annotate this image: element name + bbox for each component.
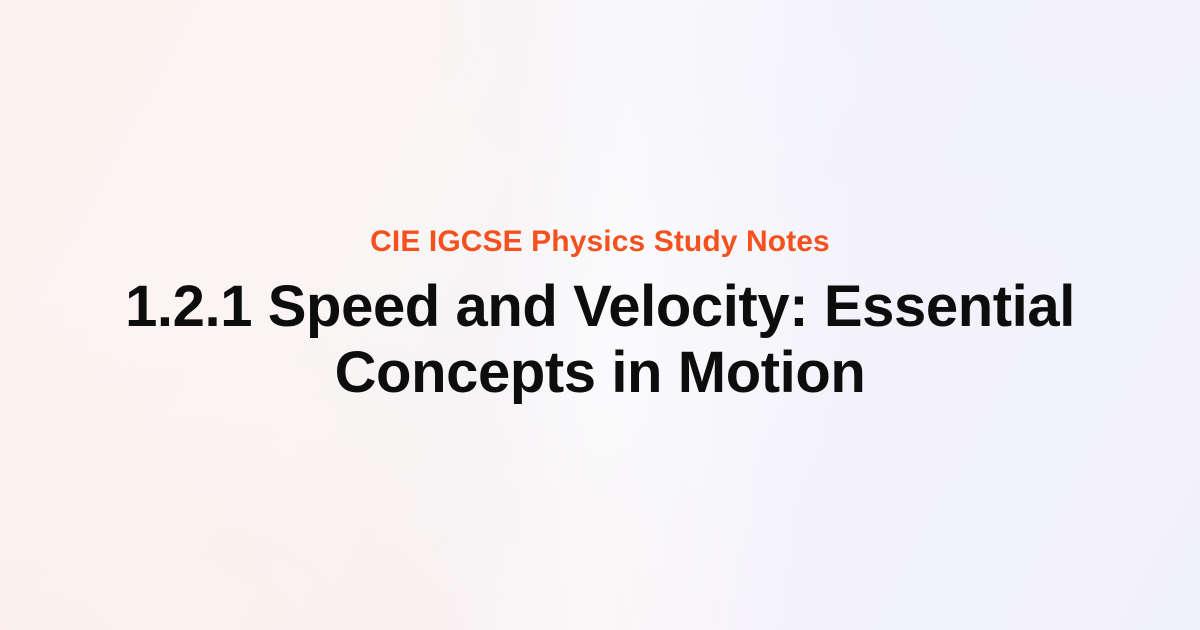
- study-notes-banner: CIE IGCSE Physics Study Notes 1.2.1 Spee…: [0, 0, 1200, 630]
- banner-eyebrow: CIE IGCSE Physics Study Notes: [370, 224, 830, 260]
- banner-title: 1.2.1 Speed and Velocity: Essential Conc…: [105, 274, 1095, 406]
- banner-content: CIE IGCSE Physics Study Notes 1.2.1 Spee…: [0, 0, 1200, 630]
